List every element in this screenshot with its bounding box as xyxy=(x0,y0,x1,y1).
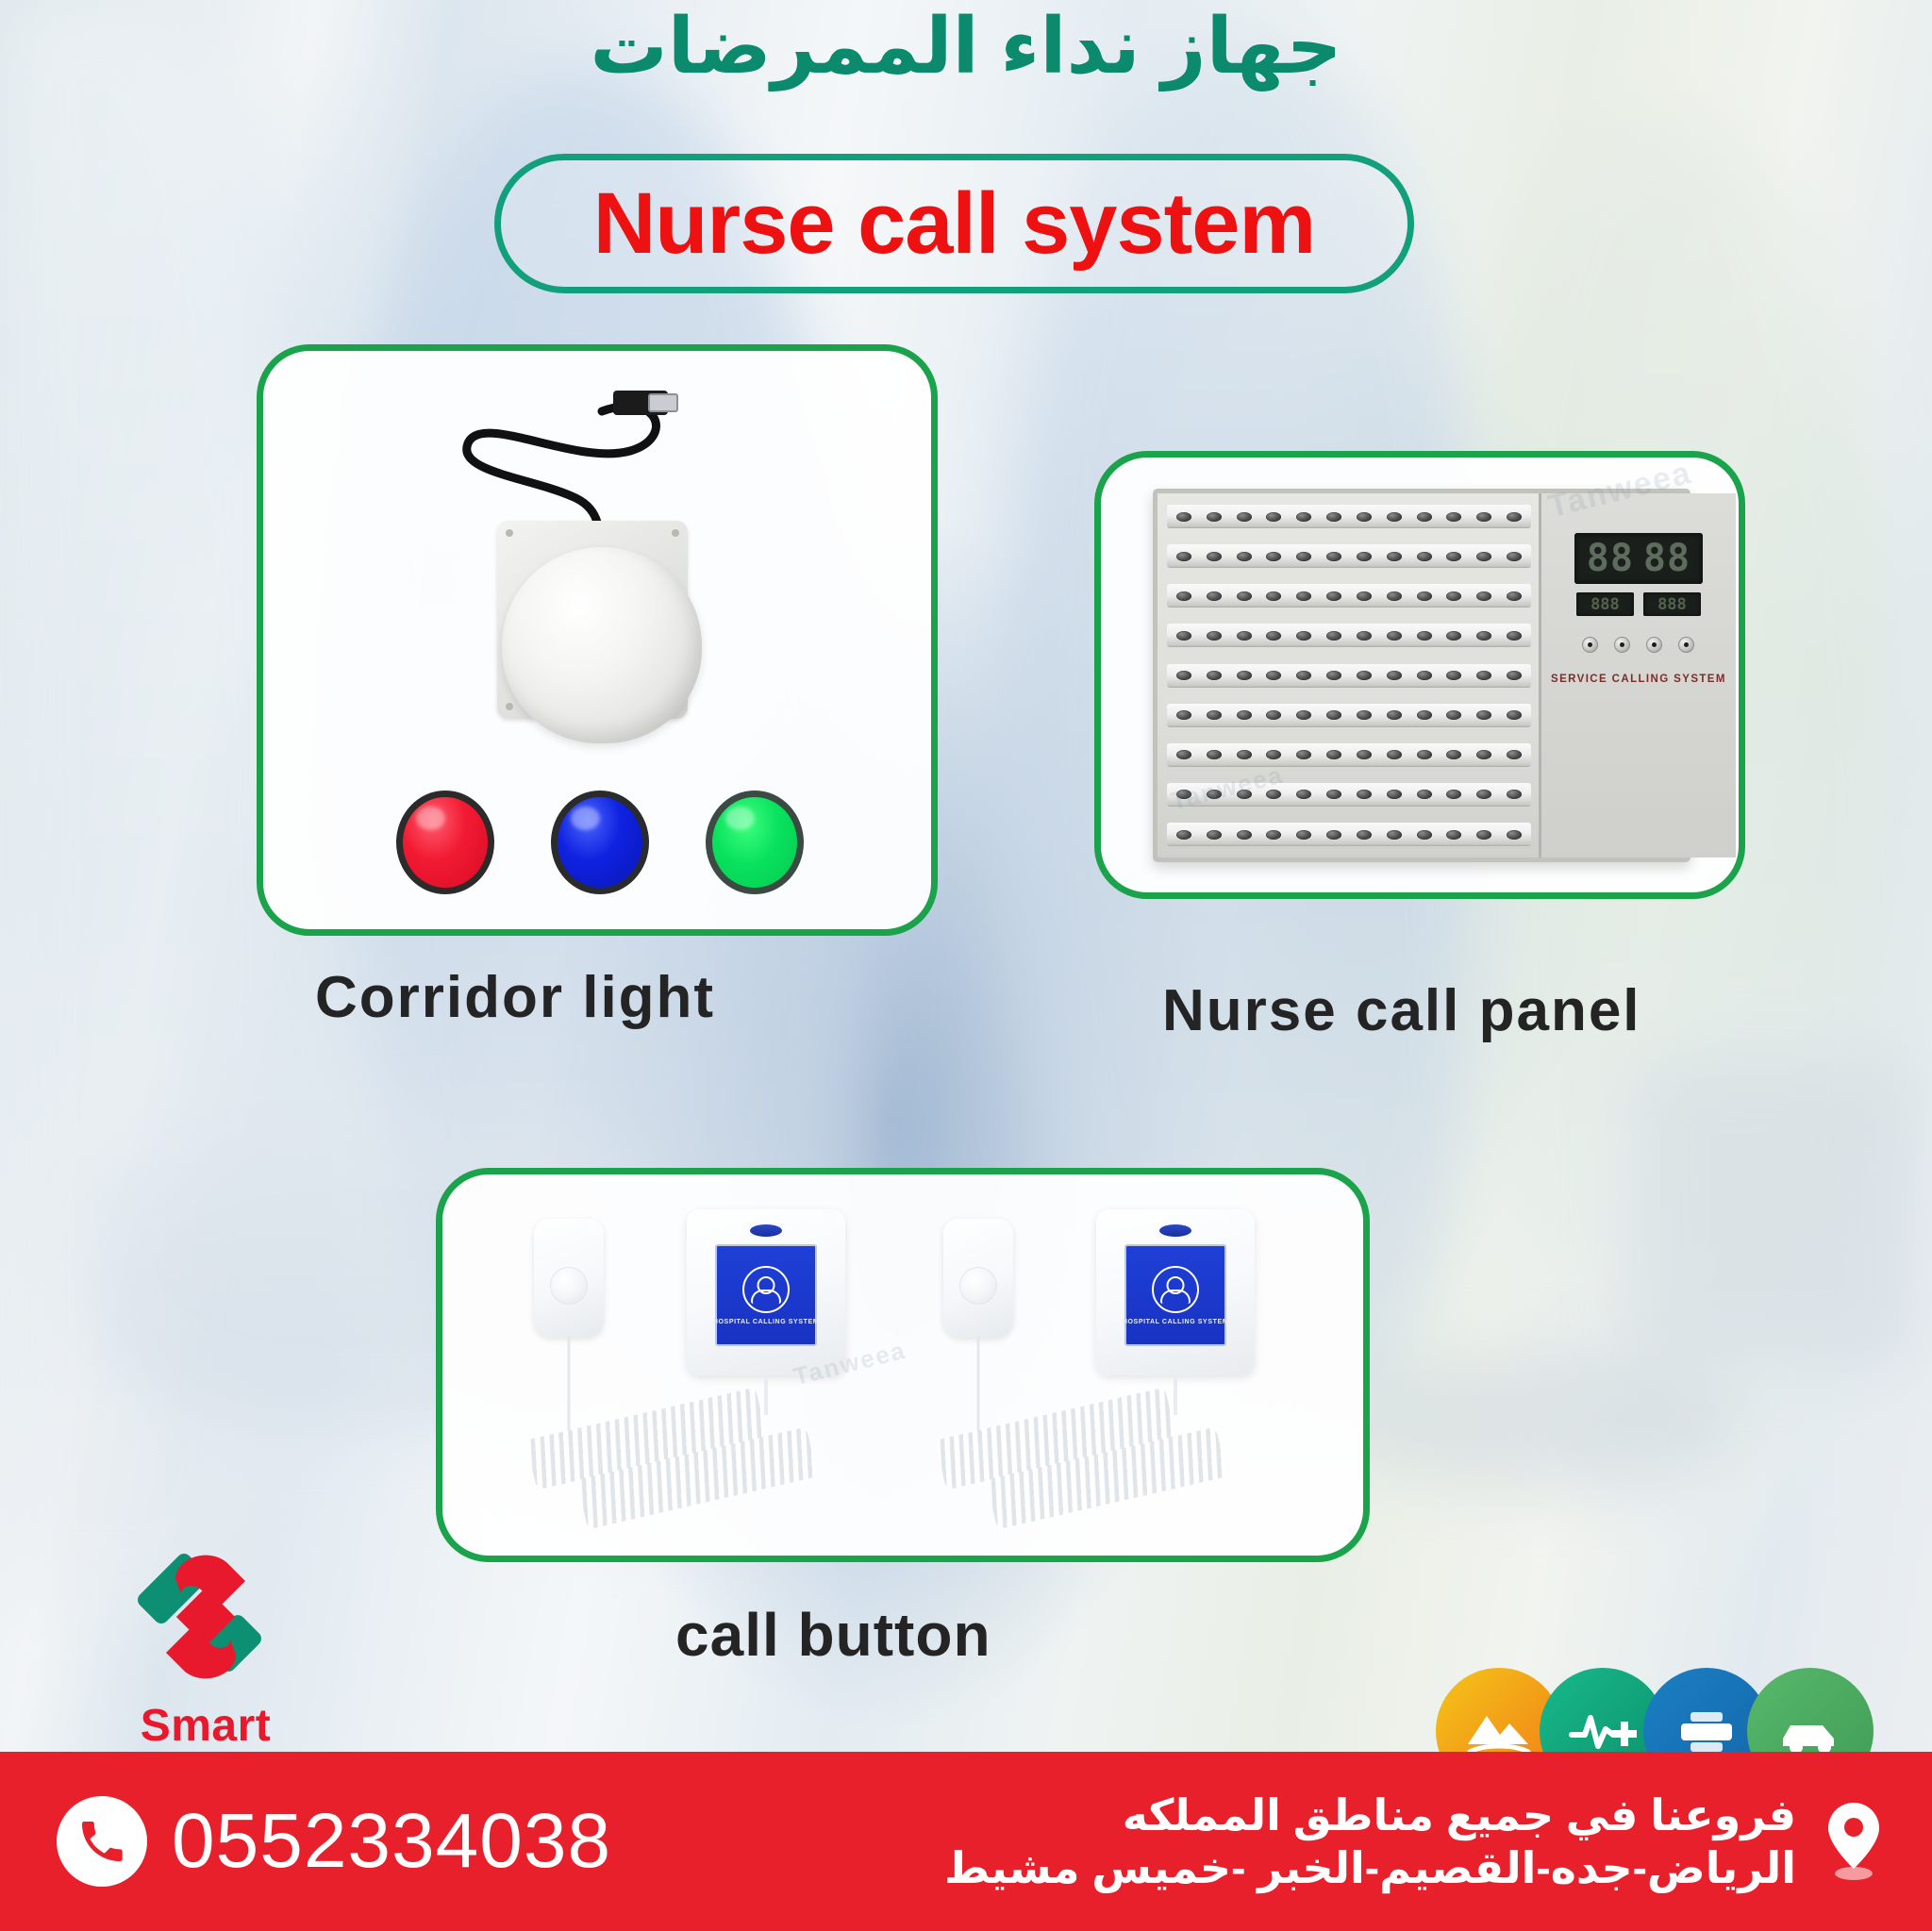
wall-unit-faceplate[interactable]: HOSPITAL CALLING SYSTEM xyxy=(1124,1244,1226,1346)
panel-led xyxy=(1417,671,1432,680)
panel-button-2[interactable] xyxy=(1614,637,1630,653)
location-pin-icon xyxy=(1824,1801,1883,1882)
panel-led xyxy=(1296,671,1311,680)
pendant-press-button[interactable] xyxy=(959,1267,997,1305)
panel-led xyxy=(1296,790,1311,799)
panel-led xyxy=(1237,631,1252,641)
panel-led xyxy=(1266,591,1281,601)
panel-led-row xyxy=(1167,664,1531,688)
panel-led xyxy=(1417,512,1432,522)
panel-led xyxy=(1326,552,1341,561)
panel-led xyxy=(1207,830,1222,840)
headline-arabic: جهاز نداء الممرضات xyxy=(0,6,1932,90)
panel-led xyxy=(1357,552,1372,561)
panel-led xyxy=(1296,750,1311,759)
wall-unit-caption: HOSPITAL CALLING SYSTEM xyxy=(1123,1319,1228,1325)
panel-led xyxy=(1296,552,1311,561)
footer-address-lines: فروعنا في جميع مناطق المملكه الرياض-جده-… xyxy=(944,1789,1796,1894)
panel-led xyxy=(1446,512,1461,522)
panel-led xyxy=(1446,790,1461,799)
panel-secondary-displays: 888 888 xyxy=(1576,592,1701,616)
panel-main-display: 88 88 xyxy=(1574,533,1703,584)
panel-led xyxy=(1387,512,1402,522)
panel-led xyxy=(1296,591,1311,601)
wall-unit-caption: HOSPITAL CALLING SYSTEM xyxy=(713,1319,819,1325)
panel-led xyxy=(1237,790,1252,799)
panel-led xyxy=(1266,671,1281,680)
panel-led xyxy=(1417,552,1432,561)
screw-icon xyxy=(672,529,679,537)
panel-led xyxy=(1266,830,1281,840)
panel-led xyxy=(1507,830,1522,840)
call-pendant-2 xyxy=(943,1219,1013,1338)
panel-led xyxy=(1357,512,1372,522)
panel-led xyxy=(1296,830,1311,840)
panel-led-row xyxy=(1167,743,1531,767)
panel-led xyxy=(1387,591,1402,601)
panel-led xyxy=(1357,671,1372,680)
panel-led xyxy=(1176,710,1191,720)
panel-led xyxy=(1296,631,1311,641)
panel-led xyxy=(1387,552,1402,561)
panel-led xyxy=(1476,830,1491,840)
panel-button-row[interactable] xyxy=(1582,637,1694,653)
call-pendant-1 xyxy=(534,1219,604,1338)
panel-led xyxy=(1476,710,1491,720)
panel-led xyxy=(1237,512,1252,522)
logo-mark-icon xyxy=(126,1538,285,1696)
blue-lamp xyxy=(551,791,649,894)
panel-led xyxy=(1417,710,1432,720)
panel-led xyxy=(1507,750,1522,759)
label-call-button: call button xyxy=(675,1600,991,1670)
panel-led xyxy=(1446,631,1461,641)
panel-led xyxy=(1326,671,1341,680)
panel-led xyxy=(1476,671,1491,680)
panel-led xyxy=(1446,710,1461,720)
panel-led xyxy=(1266,710,1281,720)
panel-led xyxy=(1176,830,1191,840)
panel-led xyxy=(1476,631,1491,641)
panel-control-column: 88 88 888 888 SERVICE CALLING SYSTEM xyxy=(1539,493,1736,857)
footer-bar: 0552334038 فروعنا في جميع مناطق المملكه … xyxy=(0,1752,1932,1931)
panel-small-left-digits: 888 xyxy=(1591,595,1620,614)
panel-led xyxy=(1507,552,1522,561)
panel-led xyxy=(1507,790,1522,799)
panel-led xyxy=(1326,591,1341,601)
panel-led xyxy=(1266,552,1281,561)
panel-led xyxy=(1266,631,1281,641)
footer-address-line-2: الرياض-جده-القصيم-الخبر -خميس مشيط xyxy=(944,1841,1796,1894)
panel-led xyxy=(1507,631,1522,641)
panel-led xyxy=(1507,671,1522,680)
panel-led xyxy=(1446,591,1461,601)
bg-blob-frame xyxy=(1632,1057,1915,1368)
panel-led xyxy=(1207,591,1222,601)
wall-call-unit-2: HOSPITAL CALLING SYSTEM xyxy=(1096,1209,1255,1375)
wall-unit-cord xyxy=(1174,1375,1177,1415)
footer-address-block: فروعنا في جميع مناطق المملكه الرياض-جده-… xyxy=(944,1789,1883,1894)
pendant-cord xyxy=(568,1336,571,1445)
panel-led xyxy=(1326,830,1341,840)
panel-led xyxy=(1357,591,1372,601)
panel-led xyxy=(1237,830,1252,840)
panel-led xyxy=(1237,671,1252,680)
panel-led xyxy=(1387,671,1402,680)
panel-led xyxy=(1357,790,1372,799)
label-corridor-light: Corridor light xyxy=(315,964,715,1031)
panel-led-row xyxy=(1167,544,1531,568)
panel-led xyxy=(1266,512,1281,522)
nurse-call-glyph-icon xyxy=(742,1266,790,1313)
panel-led xyxy=(1176,631,1191,641)
panel-led xyxy=(1237,750,1252,759)
panel-led xyxy=(1176,552,1191,561)
footer-phone-number[interactable]: 0552334038 xyxy=(172,1797,611,1886)
panel-display-small-left: 888 xyxy=(1576,592,1634,616)
nurse-call-glyph-icon xyxy=(1152,1266,1199,1313)
panel-led xyxy=(1207,552,1222,561)
panel-led xyxy=(1296,512,1311,522)
panel-led xyxy=(1207,631,1222,641)
panel-led xyxy=(1176,591,1191,601)
corridor-light-dome xyxy=(502,547,702,743)
panel-led xyxy=(1387,631,1402,641)
panel-led xyxy=(1207,512,1222,522)
panel-led xyxy=(1387,750,1402,759)
panel-led xyxy=(1387,710,1402,720)
panel-led xyxy=(1237,591,1252,601)
panel-led xyxy=(1176,790,1191,799)
poster-root: جهاز نداء الممرضات Nurse call system Cor… xyxy=(0,0,1932,1931)
footer-phone-block[interactable]: 0552334038 xyxy=(57,1796,611,1887)
panel-led xyxy=(1207,710,1222,720)
panel-led xyxy=(1237,710,1252,720)
panel-led xyxy=(1417,750,1432,759)
panel-led xyxy=(1446,552,1461,561)
headline-english-box: Nurse call system xyxy=(494,154,1414,293)
panel-led xyxy=(1176,671,1191,680)
panel-led xyxy=(1387,790,1402,799)
panel-led xyxy=(1387,830,1402,840)
footer-address-line-1: فروعنا في جميع مناطق المملكه xyxy=(944,1789,1796,1841)
panel-led xyxy=(1326,750,1341,759)
panel-led-row xyxy=(1167,624,1531,647)
panel-led xyxy=(1357,710,1372,720)
panel-led xyxy=(1476,512,1491,522)
panel-display-digits-left: 88 xyxy=(1587,537,1634,580)
panel-led xyxy=(1417,591,1432,601)
wall-call-unit-1: HOSPITAL CALLING SYSTEM xyxy=(687,1209,845,1375)
panel-led xyxy=(1476,790,1491,799)
panel-led-row xyxy=(1167,584,1531,608)
panel-led xyxy=(1237,552,1252,561)
panel-led xyxy=(1507,512,1522,522)
nurse-call-panel-device: 88 88 888 888 SERVICE CALLING SYSTEM xyxy=(1153,489,1690,862)
panel-led xyxy=(1357,750,1372,759)
panel-led-row xyxy=(1167,783,1531,807)
headline-english: Nurse call system xyxy=(593,180,1315,267)
panel-led xyxy=(1417,631,1432,641)
panel-led xyxy=(1266,790,1281,799)
panel-led xyxy=(1417,830,1432,840)
panel-led-row xyxy=(1167,505,1531,528)
panel-button-4[interactable] xyxy=(1678,637,1694,653)
panel-led xyxy=(1476,750,1491,759)
wall-unit-cord xyxy=(764,1375,768,1415)
panel-led xyxy=(1446,671,1461,680)
panel-led xyxy=(1207,750,1222,759)
wall-unit-faceplate[interactable]: HOSPITAL CALLING SYSTEM xyxy=(715,1244,817,1346)
green-lamp xyxy=(706,791,804,894)
wall-unit-indicator-led xyxy=(750,1224,782,1237)
panel-led xyxy=(1507,591,1522,601)
panel-led xyxy=(1326,710,1341,720)
panel-led-row xyxy=(1167,704,1531,727)
screw-icon xyxy=(506,529,513,537)
smart-techo-s-icon xyxy=(126,1538,285,1696)
panel-led xyxy=(1207,671,1222,680)
panel-small-right-digits: 888 xyxy=(1657,595,1687,614)
panel-led xyxy=(1326,631,1341,641)
pendant-cord xyxy=(977,1336,980,1445)
panel-led xyxy=(1176,750,1191,759)
logo-word-smart: Smart xyxy=(141,1701,272,1751)
pendant-press-button[interactable] xyxy=(550,1267,588,1305)
panel-led xyxy=(1507,710,1522,720)
panel-led xyxy=(1357,631,1372,641)
label-nurse-call-panel: Nurse call panel xyxy=(1162,977,1641,1044)
red-lamp xyxy=(396,791,494,894)
panel-caption: SERVICE CALLING SYSTEM xyxy=(1551,674,1726,685)
panel-led xyxy=(1326,512,1341,522)
panel-led xyxy=(1357,830,1372,840)
panel-led-row xyxy=(1167,823,1531,846)
panel-led xyxy=(1446,750,1461,759)
screw-icon xyxy=(506,703,513,710)
wall-unit-indicator-led xyxy=(1159,1224,1191,1237)
panel-button-1[interactable] xyxy=(1582,637,1598,653)
panel-led xyxy=(1446,830,1461,840)
panel-led xyxy=(1326,790,1341,799)
panel-display-digits-right: 88 xyxy=(1643,537,1690,580)
panel-button-3[interactable] xyxy=(1646,637,1662,653)
panel-led xyxy=(1296,710,1311,720)
bg-blob-cart xyxy=(1340,1349,1745,1490)
panel-led-matrix xyxy=(1158,493,1539,857)
panel-led xyxy=(1266,750,1281,759)
panel-led xyxy=(1476,591,1491,601)
panel-led xyxy=(1207,790,1222,799)
panel-led xyxy=(1176,512,1191,522)
panel-display-small-right: 888 xyxy=(1643,592,1701,616)
panel-led xyxy=(1476,552,1491,561)
panel-led xyxy=(1417,790,1432,799)
phone-icon xyxy=(57,1796,147,1887)
